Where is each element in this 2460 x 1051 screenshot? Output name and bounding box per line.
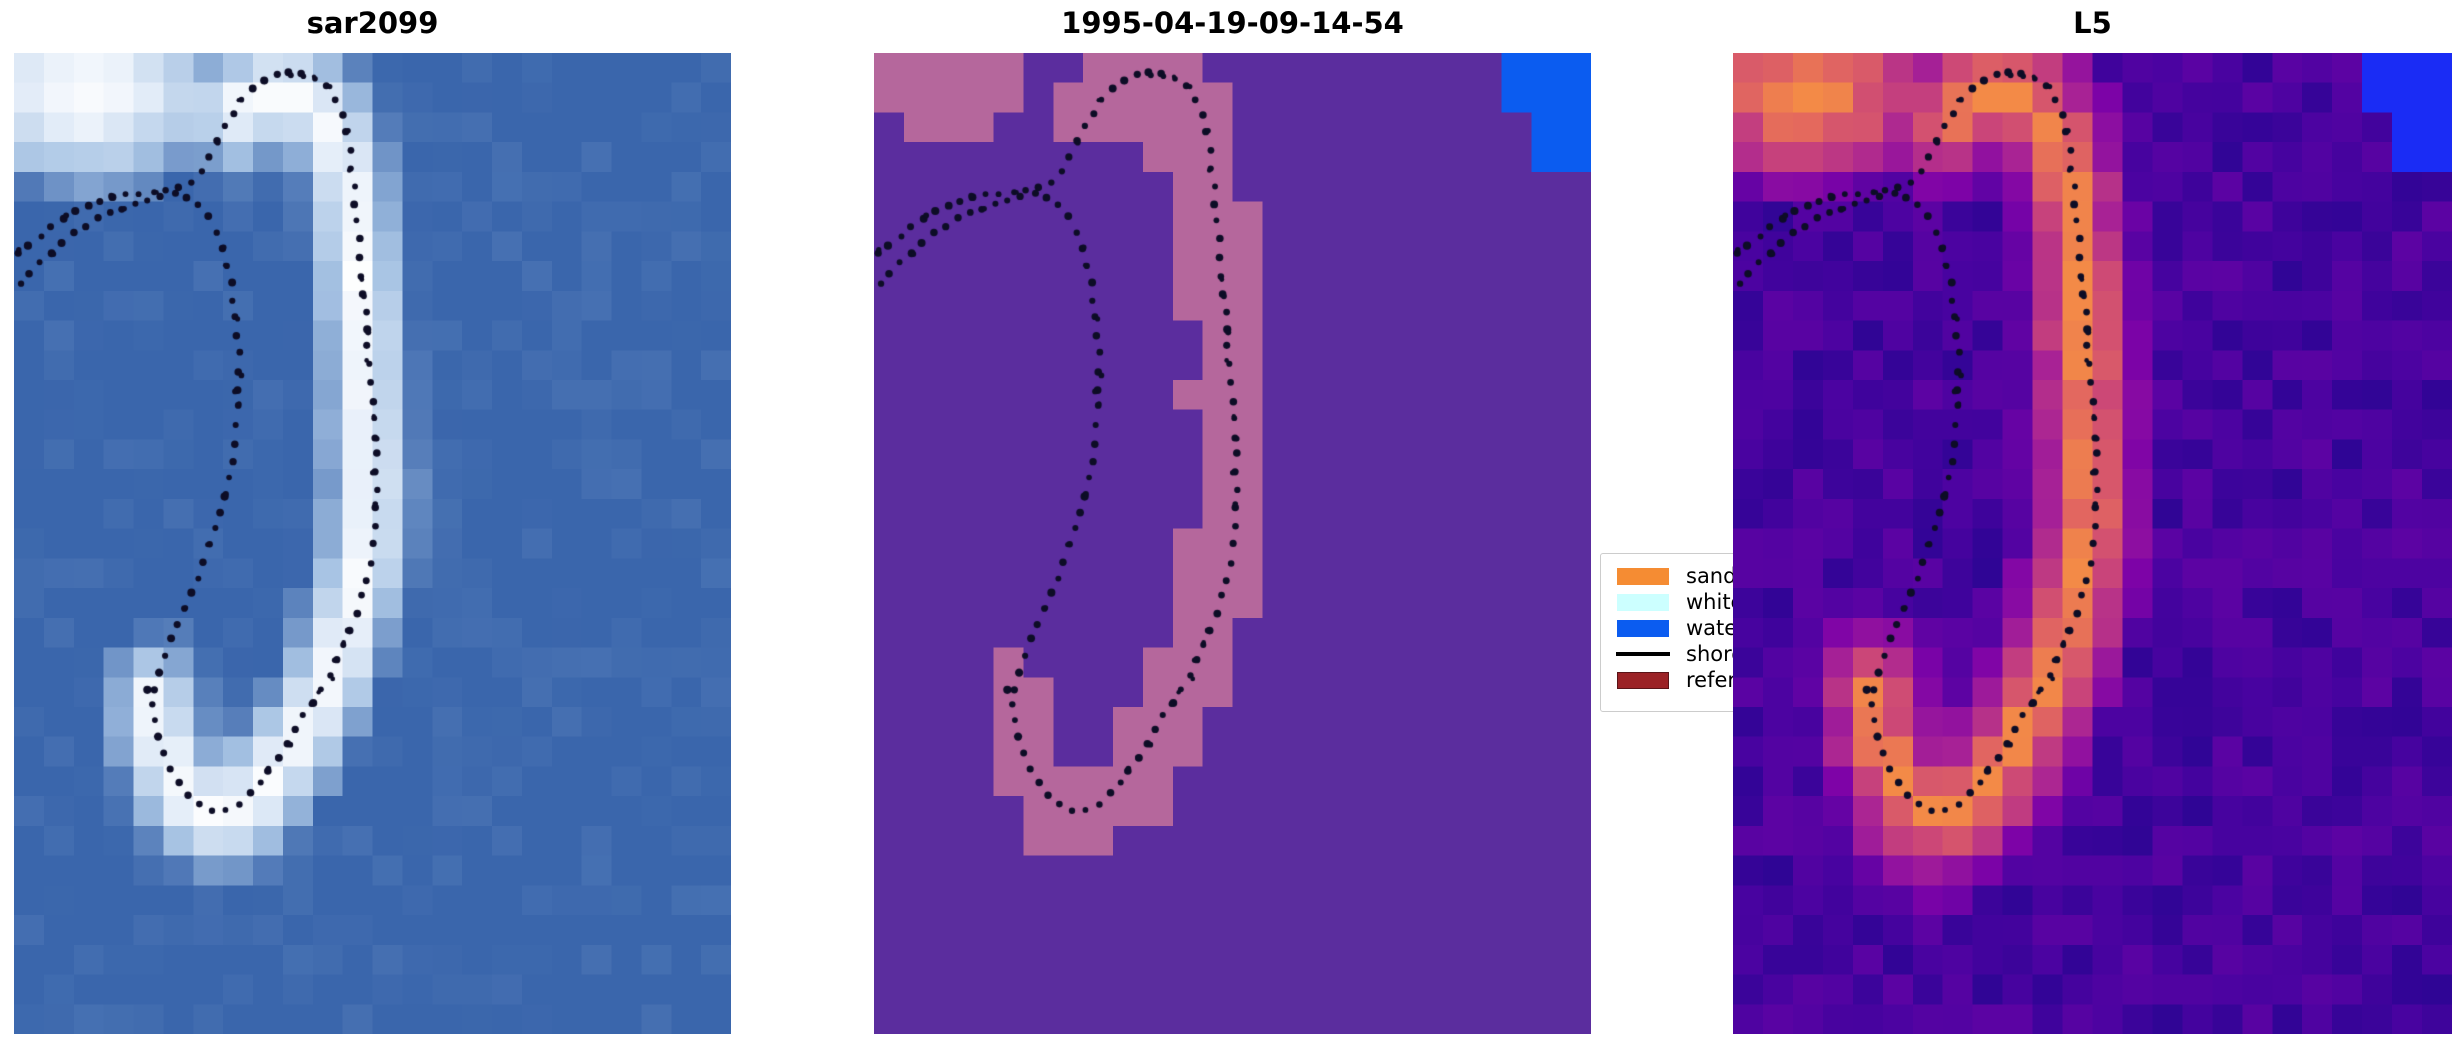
- swatch-mark: [1617, 672, 1669, 689]
- shoreline-overlay: [874, 53, 1591, 1034]
- legend-swatch-sand-icon: [1612, 568, 1674, 585]
- swatch-mark: [1617, 594, 1669, 611]
- figure-root: sar2099 1995-04-19-09-14-54 L5 sandwhite…: [0, 0, 2460, 1051]
- panel-title-classification: 1995-04-19-09-14-54: [874, 6, 1591, 40]
- swatch-mark: [1617, 568, 1669, 585]
- swatch-mark: [1617, 620, 1669, 637]
- panel-classification[interactable]: [874, 53, 1591, 1034]
- legend-swatch-reference-icon: [1612, 672, 1674, 689]
- panel-sar2099[interactable]: [14, 53, 731, 1034]
- panel-title-l5: L5: [1733, 6, 2452, 40]
- swatch-mark: [1616, 652, 1670, 656]
- panel-l5[interactable]: [1733, 53, 2452, 1034]
- legend-swatch-shoreline-icon: [1612, 652, 1674, 656]
- shoreline-overlay: [14, 53, 731, 1034]
- legend-swatch-whitewater-icon: [1612, 594, 1674, 611]
- shoreline-overlay: [1733, 53, 2452, 1034]
- panel-title-sar2099: sar2099: [14, 6, 731, 40]
- legend-label: sand: [1674, 563, 1736, 589]
- legend-swatch-water-icon: [1612, 620, 1674, 637]
